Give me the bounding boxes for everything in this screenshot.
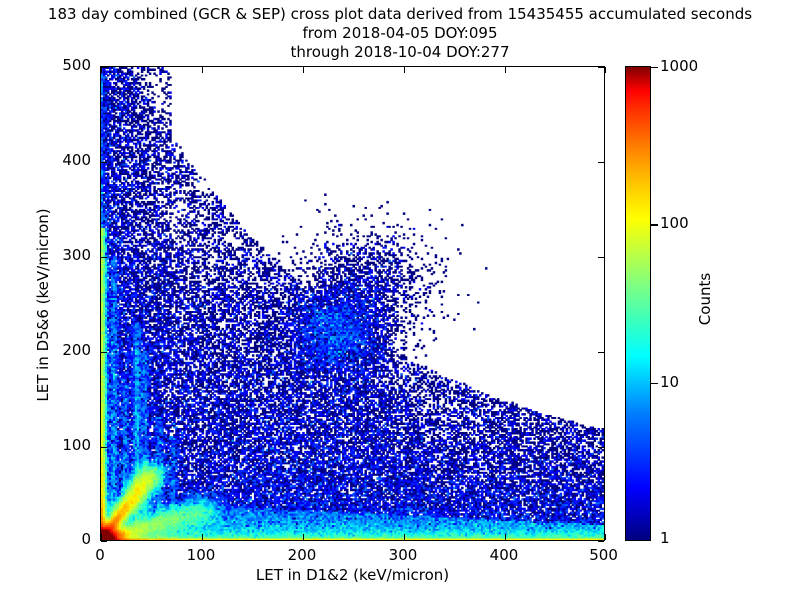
x-tick-100 (202, 67, 203, 73)
y-tick-500 (598, 67, 604, 68)
x-tick-300 (404, 67, 405, 73)
x-tick-label-0: 0 (60, 546, 140, 564)
y-axis-title: LET in D5&6 (keV/micron) (34, 155, 52, 455)
figure-canvas: 183 day combined (GCR & SEP) cross plot … (0, 0, 800, 600)
plot-area (100, 66, 605, 541)
x-axis-title: LET in D1&2 (keV/micron) (100, 566, 605, 584)
colorbar-gradient (625, 66, 651, 541)
figure-title-line-1: 183 day combined (GCR & SEP) cross plot … (0, 5, 800, 23)
colorbar-tick-label-10: 10 (660, 373, 679, 391)
colorbar-tick-100 (651, 224, 658, 225)
y-tick-0 (598, 541, 604, 542)
colorbar-title: Counts (696, 189, 714, 409)
y-tick-500 (101, 67, 107, 68)
y-tick-100 (101, 447, 107, 448)
y-tick-0 (101, 541, 107, 542)
x-tick-200 (303, 534, 304, 540)
x-tick-label-500: 500 (564, 546, 644, 564)
x-tick-200 (303, 67, 304, 73)
colorbar-tick-10 (651, 383, 658, 384)
y-tick-400 (101, 162, 107, 163)
x-tick-500 (605, 534, 606, 540)
y-tick-300 (598, 257, 604, 258)
x-tick-0 (101, 534, 102, 540)
y-tick-label-500: 500 (31, 56, 91, 74)
y-tick-label-0: 0 (31, 530, 91, 548)
density-scatter-canvas (101, 67, 604, 540)
y-tick-200 (598, 352, 604, 353)
x-tick-label-400: 400 (464, 546, 544, 564)
x-tick-label-100: 100 (161, 546, 241, 564)
colorbar-tick-label-1000: 1000 (660, 57, 698, 75)
x-tick-label-200: 200 (262, 546, 342, 564)
x-tick-500 (605, 67, 606, 73)
colorbar-tick-label-1: 1 (660, 529, 670, 547)
x-tick-label-300: 300 (363, 546, 443, 564)
y-tick-400 (598, 162, 604, 163)
y-tick-300 (101, 257, 107, 258)
x-tick-300 (404, 534, 405, 540)
figure-title-line-2: from 2018-04-05 DOY:095 (0, 24, 800, 42)
colorbar-tick-label-100: 100 (660, 214, 689, 232)
x-tick-400 (505, 67, 506, 73)
x-tick-100 (202, 534, 203, 540)
x-tick-400 (505, 534, 506, 540)
colorbar-tick-1000 (651, 67, 658, 68)
y-tick-200 (101, 352, 107, 353)
y-tick-100 (598, 447, 604, 448)
